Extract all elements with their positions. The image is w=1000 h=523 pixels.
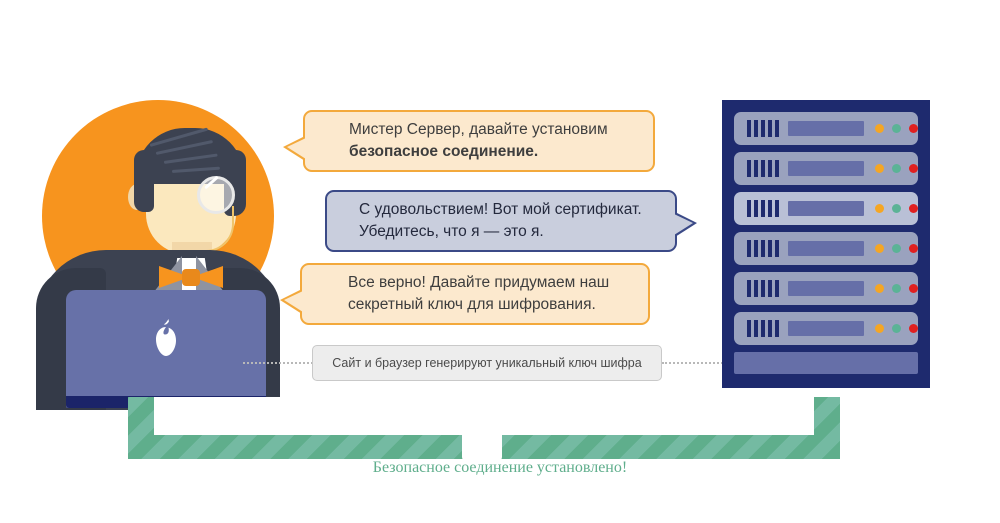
server-rack — [722, 100, 930, 388]
server-unit-highlighted — [734, 192, 918, 225]
vent-bars — [747, 280, 779, 297]
server-unit — [734, 232, 918, 265]
pear-logo-icon — [152, 318, 180, 358]
vent-bars — [747, 200, 779, 217]
bubble-tail-1-fill — [287, 138, 306, 159]
unit-panel — [788, 321, 865, 336]
status-leds — [875, 124, 918, 133]
key-generation-note: Сайт и браузер генерируют уникальный клю… — [312, 345, 662, 381]
padlock-icon — [455, 395, 509, 463]
bow-tie-knot — [182, 269, 200, 286]
status-leds — [875, 204, 918, 213]
vent-bars — [747, 160, 779, 177]
unit-panel — [788, 121, 865, 136]
speech-bubble-browser-1: Мистер Сервер, давайте установим безопас… — [303, 110, 655, 172]
server-unit — [734, 112, 918, 145]
key-generation-text: Сайт и браузер генерируют уникальный клю… — [332, 356, 641, 370]
hair-side-left — [134, 150, 154, 212]
rack-base-bar — [734, 352, 918, 374]
browser-character — [0, 0, 300, 420]
status-leds — [875, 324, 918, 333]
dotted-connector-left — [243, 362, 313, 364]
bubble-3-line-2: секретный ключ для шифрования. — [348, 296, 596, 313]
bubble-2-line-1: С удовольствием! Вот мой сертификат. — [359, 201, 642, 218]
bubble-tail-2-fill — [674, 214, 693, 235]
illustration-canvas: Мистер Сервер, давайте установим безопас… — [0, 0, 1000, 523]
server-unit — [734, 272, 918, 305]
speech-bubble-browser-2: Все верно! Давайте придумаем наш секретн… — [300, 263, 650, 325]
vent-bars — [747, 240, 779, 257]
vent-bars — [747, 120, 779, 137]
bubble-1-line-1: Мистер Сервер, давайте установим — [349, 121, 608, 138]
bubble-3-line-1: Все верно! Давайте придумаем наш — [348, 274, 609, 291]
status-leds — [875, 284, 918, 293]
unit-panel — [788, 281, 865, 296]
vent-bars — [747, 320, 779, 337]
caption-text: Безопасное соединение установлено! — [0, 459, 1000, 477]
bubble-2-line-2: Убедитесь, что я — это я. — [359, 223, 544, 240]
dotted-connector-right — [662, 362, 727, 364]
unit-panel — [788, 161, 865, 176]
bubble-tail-3-fill — [284, 291, 303, 312]
unit-panel — [788, 201, 865, 216]
status-leds — [875, 164, 918, 173]
speech-bubble-server-1: С удовольствием! Вот мой сертификат. Убе… — [325, 190, 677, 252]
unit-panel — [788, 241, 865, 256]
server-unit — [734, 152, 918, 185]
bubble-1-line-2: безопасное соединение. — [349, 143, 538, 160]
status-leds — [875, 244, 918, 253]
server-unit — [734, 312, 918, 345]
